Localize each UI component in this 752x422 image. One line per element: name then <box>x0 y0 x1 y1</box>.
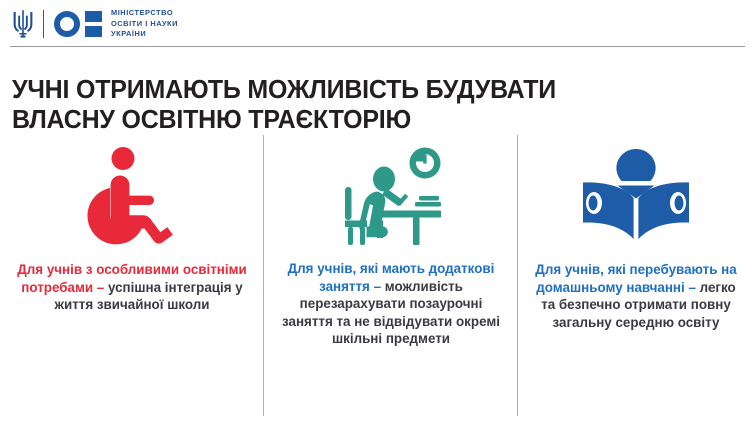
mon-circle-bars-logo-icon <box>54 11 102 37</box>
feature-caption-1: Для учнів з особливими освітніми потреба… <box>8 261 256 314</box>
ministry-line-3: УКРАЇНИ <box>111 29 146 38</box>
page-title-line-2: ВЛАСНУ ОСВІТНЮ ТРАЄКТОРІЮ <box>12 104 684 134</box>
page-title: УЧНІ ОТРИМАЮТЬ МОЖЛИВІСТЬ БУДУВАТИ ВЛАСН… <box>12 74 684 134</box>
column-divider-2 <box>517 135 518 416</box>
page-title-line-1: УЧНІ ОТРИМАЮТЬ МОЖЛИВІСТЬ БУДУВАТИ <box>12 74 684 104</box>
feature-icon-1-wrap <box>8 133 256 261</box>
feature-column-1: Для учнів з особливими освітніми потреба… <box>8 133 256 314</box>
feature-caption-2: Для учнів, які мають додаткові заняття –… <box>272 260 510 348</box>
logo-bars-icon <box>85 11 102 37</box>
feature-columns: Для учнів з особливими освітніми потреба… <box>0 133 752 418</box>
wheelchair-accessibility-icon <box>80 145 184 249</box>
ministry-logo: МІНІСТЕРСТВО ОСВІТИ І НАУКИ УКРАЇНИ <box>12 6 178 42</box>
student-at-desk-clock-icon <box>335 141 447 253</box>
ukraine-trident-emblem-icon <box>12 9 34 39</box>
ministry-line-1: МІНІСТЕРСТВО <box>111 8 173 17</box>
logo-divider <box>43 10 44 38</box>
feature-column-2: Для учнів, які мають додаткові заняття –… <box>272 133 510 348</box>
page-header: МІНІСТЕРСТВО ОСВІТИ І НАУКИ УКРАЇНИ <box>0 0 752 47</box>
ministry-name: МІНІСТЕРСТВО ОСВІТИ І НАУКИ УКРАЇНИ <box>111 8 178 39</box>
ministry-line-2: ОСВІТИ І НАУКИ <box>111 19 178 28</box>
column-divider-1 <box>263 135 264 416</box>
logo-circle-icon <box>54 11 80 37</box>
header-divider <box>10 46 745 47</box>
feature-caption-3: Для учнів, які перебувають на домашньому… <box>527 261 745 331</box>
feature-column-3: Для учнів, які перебувають на домашньому… <box>527 133 745 331</box>
feature-icon-3-wrap <box>527 133 745 261</box>
feature-icon-2-wrap <box>272 133 510 261</box>
feature-rest-2: можливість перезарахувати позаурочні зан… <box>282 279 500 347</box>
person-reading-book-icon <box>577 149 695 245</box>
